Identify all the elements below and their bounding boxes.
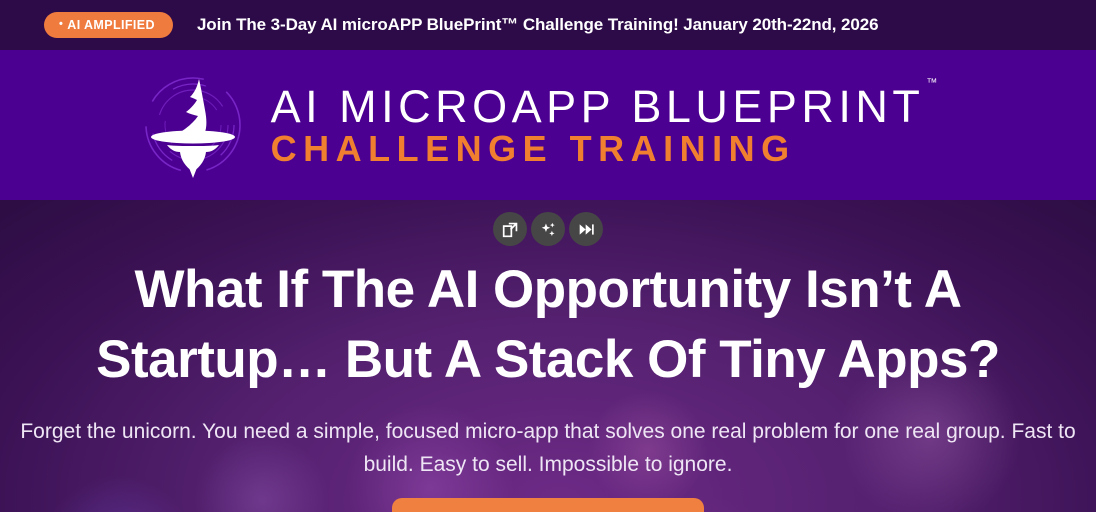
landing-page: • AI AMPLIFIED Join The 3-Day AI microAP… bbox=[0, 0, 1096, 512]
wizard-hat-logo-icon bbox=[141, 66, 245, 184]
brand-wordmark: AI MICROAPP BLUEPRINT™ CHALLENGE TRAININ… bbox=[271, 84, 936, 167]
trademark-icon: ™ bbox=[926, 77, 937, 89]
primary-cta-button[interactable] bbox=[392, 498, 704, 512]
hero-control-bar bbox=[0, 212, 1096, 246]
popout-icon-button[interactable] bbox=[493, 212, 527, 246]
announcement-bar: • AI AMPLIFIED Join The 3-Day AI microAP… bbox=[0, 0, 1096, 50]
announcement-text: Join The 3-Day AI microAPP BluePrint™ Ch… bbox=[197, 15, 879, 35]
subheading-line-1: Forget the unicorn. You need a simple, f… bbox=[20, 420, 940, 443]
sparkles-icon-button[interactable] bbox=[531, 212, 565, 246]
headline-line-2: Startup… But A Stack Of Tiny Apps? bbox=[96, 330, 1000, 389]
badge-label: AI AMPLIFIED bbox=[67, 19, 155, 32]
sparkles-icon bbox=[540, 221, 557, 238]
skip-forward-icon bbox=[578, 221, 595, 238]
brand-title-line1: AI MICROAPP BLUEPRINT™ bbox=[271, 84, 936, 129]
brand-title-line2: CHALLENGE TRAINING bbox=[271, 131, 936, 167]
skip-forward-icon-button[interactable] bbox=[569, 212, 603, 246]
hero-subheading: Forget the unicorn. You need a simple, f… bbox=[0, 416, 1096, 481]
ai-amplified-badge[interactable]: • AI AMPLIFIED bbox=[44, 12, 173, 39]
cta-container bbox=[0, 498, 1096, 512]
headline-line-1: What If The AI Opportunity Isn’t A bbox=[135, 260, 962, 319]
badge-dot-icon: • bbox=[59, 19, 63, 30]
popout-icon bbox=[502, 221, 519, 238]
logo-band: AI MICROAPP BLUEPRINT™ CHALLENGE TRAININ… bbox=[0, 50, 1096, 200]
page-title: What If The AI Opportunity Isn’t A Start… bbox=[0, 255, 1096, 396]
brand-logo[interactable]: AI MICROAPP BLUEPRINT™ CHALLENGE TRAININ… bbox=[141, 66, 936, 184]
hero-section: What If The AI Opportunity Isn’t A Start… bbox=[0, 200, 1096, 512]
